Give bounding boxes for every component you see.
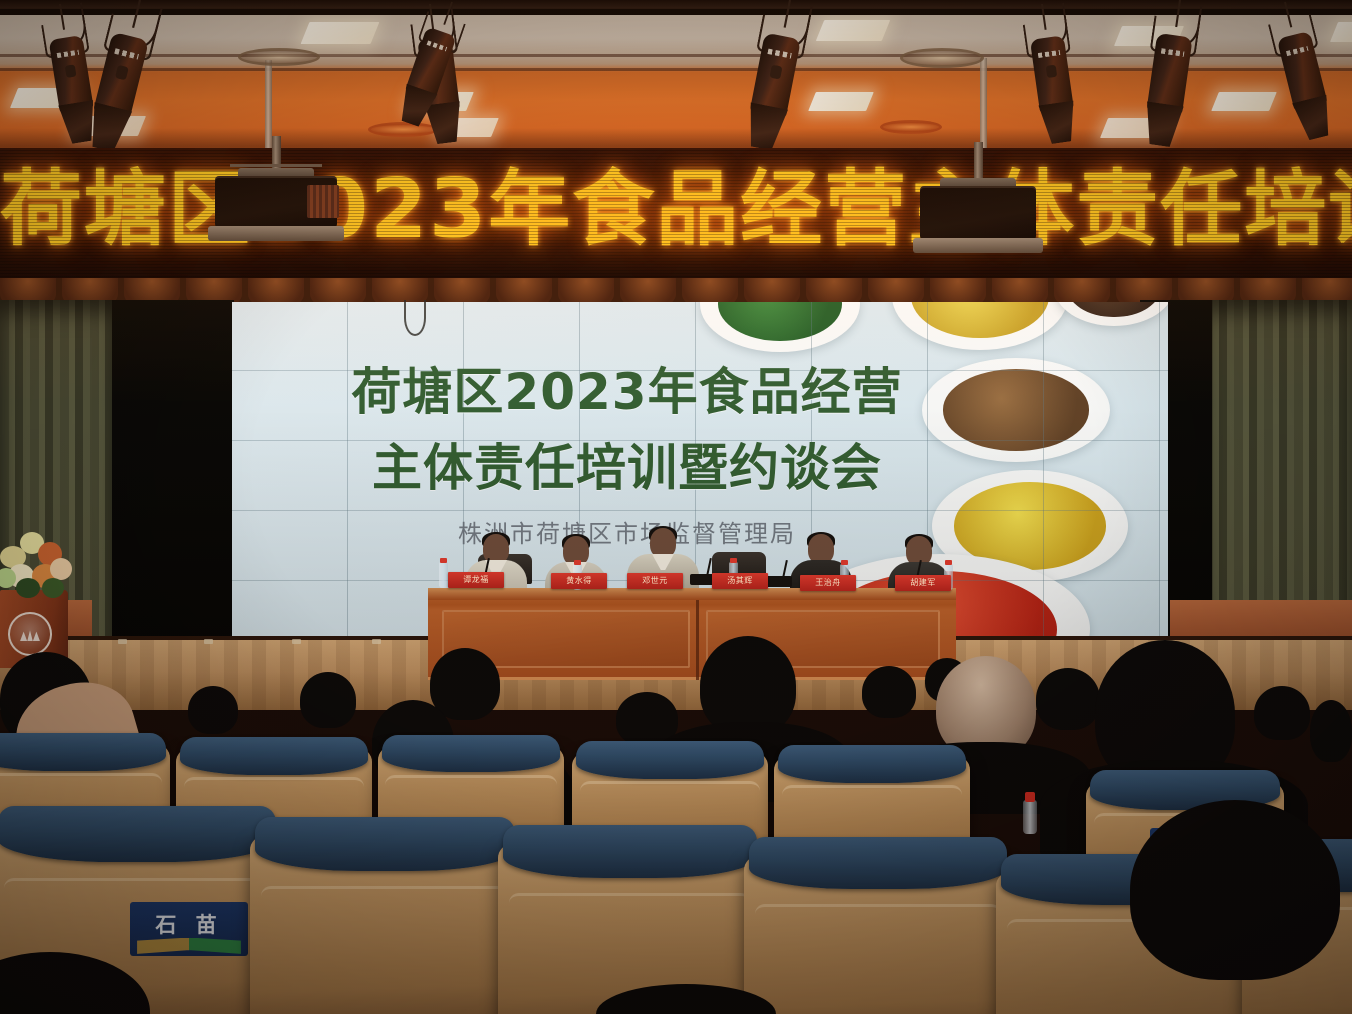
led-banner: 荷塘区2023年食品经营主体责任培训暨约谈会 — [0, 148, 1352, 280]
audience-head — [1254, 686, 1310, 740]
name-card: 邓世元 — [627, 573, 683, 589]
lighting-truss-lower-rail — [0, 9, 1352, 15]
name-card: 胡建军 — [895, 575, 951, 591]
hanging-cable — [404, 300, 426, 336]
ceiling-projector — [215, 176, 337, 228]
recessed-panel-light — [1330, 22, 1352, 42]
ceiling-support-post — [980, 58, 987, 148]
audience-head — [1130, 800, 1340, 980]
recessed-panel-light — [1211, 92, 1277, 111]
audience-head — [430, 648, 500, 720]
audience-head — [1036, 668, 1100, 730]
screen-title: 荷塘区2023年食品经营 主体责任培训暨约谈会 — [232, 354, 1022, 506]
water-bottle — [1023, 800, 1037, 834]
table-microphone — [766, 576, 792, 587]
audience-head — [862, 666, 916, 718]
seat-label: 石 苗 — [130, 902, 248, 956]
ceiling-support-post — [265, 60, 272, 148]
name-card: 黄水得 — [551, 573, 607, 589]
ceiling-speaker — [368, 122, 438, 137]
led-banner-text: 荷塘区2023年食品经营主体责任培训暨约谈会 — [0, 162, 1352, 258]
institutional-crest-icon — [8, 612, 52, 656]
audience-head — [188, 686, 238, 734]
auditorium-seat[interactable] — [250, 836, 520, 1014]
ceiling-projector — [920, 186, 1036, 240]
audience-head — [1310, 700, 1352, 762]
ceiling-speaker — [900, 48, 984, 68]
screen-title-line-1: 荷塘区2023年食品经营 — [232, 354, 1022, 430]
recessed-panel-light — [808, 92, 874, 111]
audience-head — [700, 636, 796, 736]
water-bottle — [439, 562, 448, 588]
auditorium-seat[interactable] — [744, 856, 1012, 1014]
screen-title-line-2: 主体责任培训暨约谈会 — [232, 430, 1022, 506]
audience-head — [300, 672, 356, 728]
ceiling-speaker — [880, 120, 942, 134]
head-table — [428, 588, 956, 680]
name-card: 王治舟 — [800, 575, 856, 591]
auditorium-photo: 荷塘区2023年食品经营主体责任培训暨约谈会 — [0, 0, 1352, 1014]
name-card: 谭龙福 — [448, 572, 504, 588]
recessed-panel-light — [816, 20, 890, 41]
recessed-panel-light — [301, 22, 380, 44]
flower-arrangement — [0, 524, 78, 600]
ceiling-speaker — [238, 48, 320, 66]
name-card: 汤其辉 — [712, 573, 768, 589]
stage-backdrop-left — [112, 300, 234, 652]
